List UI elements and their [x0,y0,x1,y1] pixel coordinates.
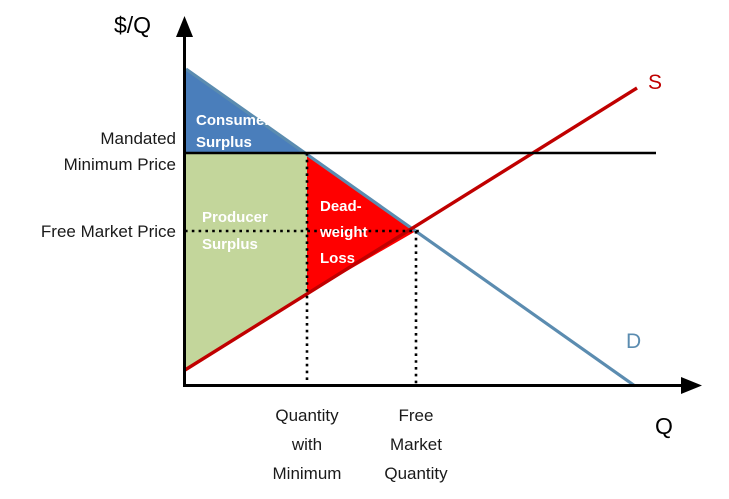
mandated-minimum-price-label-line1: Mandated [0,126,176,152]
deadweight-loss-label-line3: Loss [320,248,355,270]
free-market-quantity-label-line3: Quantity [351,459,481,488]
producer-surplus-label-line1: Producer [202,207,268,229]
x-axis-arrow-icon [681,377,702,394]
consumer-surplus-label-line2: Surplus [196,132,252,154]
free-market-price-label: Free Market Price [0,219,176,245]
producer-surplus-region [186,153,307,370]
deadweight-loss-label-line2: weight [320,222,368,244]
demand-curve-label: D [626,330,641,354]
free-market-quantity-label-line2: Market [351,430,481,459]
economics-diagram-canvas: $/Q Q S D Mandated Minimum Price Free Ma… [0,0,729,499]
y-axis-arrow-icon [176,16,193,37]
free-market-quantity-label-line1: Free [351,401,481,430]
y-axis-title: $/Q [114,12,151,39]
producer-surplus-label-line2: Surplus [202,234,258,256]
supply-curve-label: S [648,71,662,95]
mandated-minimum-price-label-line2: Minimum Price [0,152,176,178]
consumer-surplus-label-line1: Consumer [196,110,270,132]
x-axis-title: Q [655,413,673,440]
deadweight-loss-label-line1: Dead- [320,196,362,218]
